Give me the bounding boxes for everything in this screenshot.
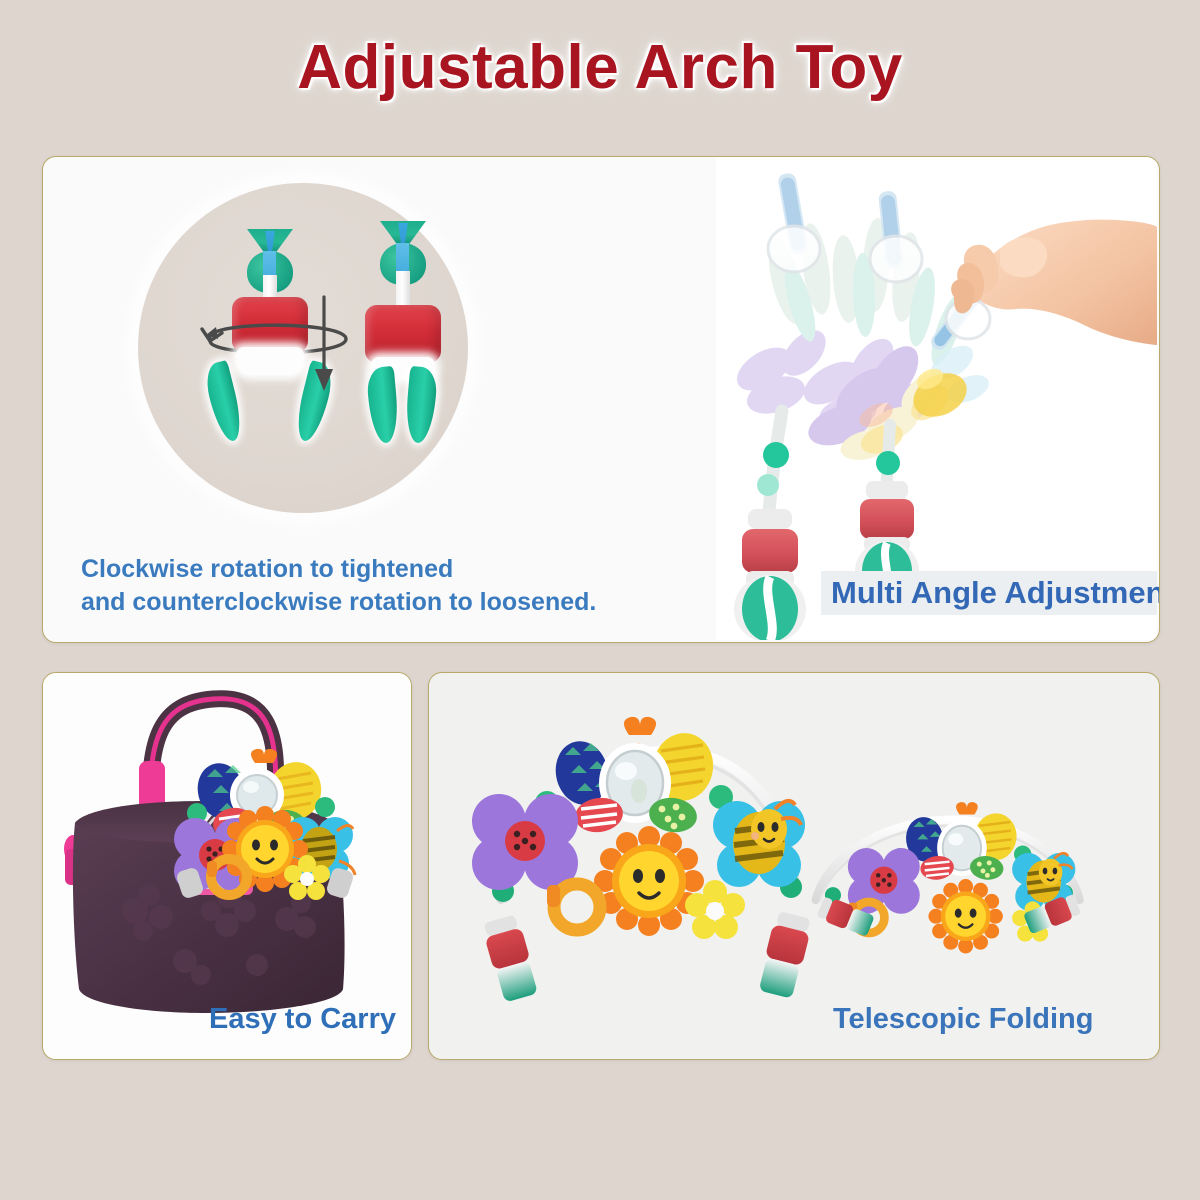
clamp-jaw-right [404,366,439,444]
rotation-caption-line1: Clockwise rotation to tightened [81,553,596,586]
clamp-closed-tightened [343,221,463,446]
easy-to-carry-label: Easy to Carry [209,1003,396,1036]
telescopic-folding-label: Telescopic Folding [833,1003,1094,1036]
multi-angle-photo [716,157,1157,640]
telescopic-folding-illustration [429,673,1159,1059]
panel-telescopic-folding: Telescopic Folding [428,672,1160,1060]
rotation-diagram-circle [138,183,468,513]
red-tightening-knob [365,305,441,363]
rotation-caption-line2: and counterclockwise rotation to loosene… [81,586,596,619]
diaper-bag-photo [43,673,411,1059]
rotation-caption: Clockwise rotation to tightened and coun… [81,553,596,619]
multi-angle-label: Multi Angle Adjustment [831,575,1160,611]
arch-toy-on-bag [174,749,355,900]
diaper-bag-illustration [43,673,411,1059]
arch-folded [816,802,1082,953]
page-title-bar: Adjustable Arch Toy [0,22,1200,112]
page-title: Adjustable Arch Toy [297,32,902,103]
down-arrow-icon [305,293,343,397]
arch-expanded [472,717,813,1003]
clamp-bracket [236,347,304,375]
multi-angle-illustration [716,157,1157,640]
white-neck-shaft [396,271,410,309]
panel-rotation-and-multi-angle: Clockwise rotation to tightened and coun… [42,156,1160,643]
arch-leg-left [734,411,806,640]
panel-easy-to-carry: Easy to Carry [42,672,412,1060]
